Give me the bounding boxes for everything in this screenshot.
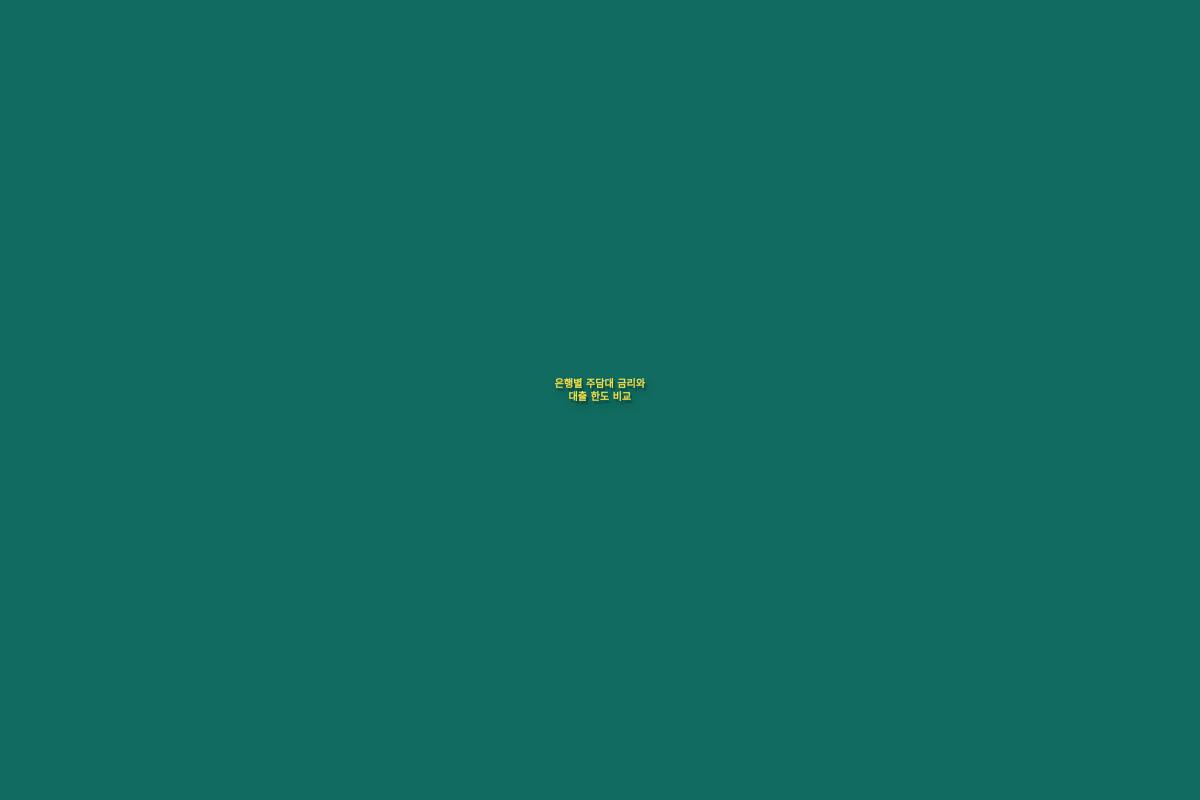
title-line-2: 대출 한도 비교 [40, 391, 1160, 404]
title-banner: 은행별 주담대 금리와 대출 한도 비교 [0, 0, 1200, 800]
title-line-1: 은행별 주담대 금리와 [40, 378, 1160, 391]
page-title: 은행별 주담대 금리와 대출 한도 비교 [0, 378, 1200, 404]
